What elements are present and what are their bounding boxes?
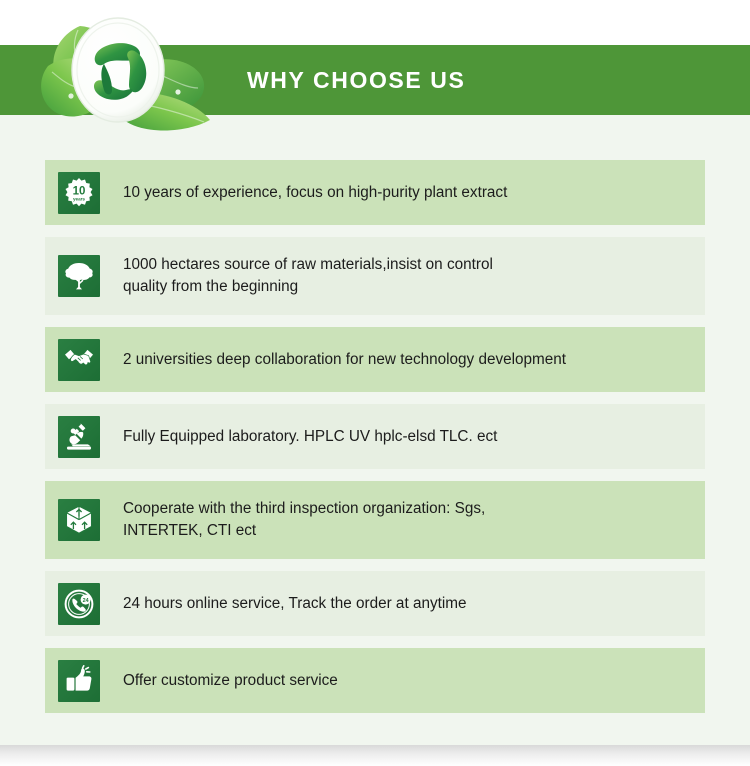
list-item-label: 10 years of experience, focus on high-pu… <box>123 182 705 204</box>
bottom-shadow <box>0 745 750 766</box>
tree-icon <box>58 255 100 297</box>
list-item[interactable]: Fully Equipped laboratory. HPLC UV hplc-… <box>45 404 705 469</box>
list-item-label: Cooperate with the third inspection orga… <box>123 498 705 542</box>
company-leaf-logo <box>18 8 233 138</box>
list-item-label: 1000 hectares source of raw materials,in… <box>123 254 705 298</box>
svg-text:24: 24 <box>83 598 89 604</box>
thumbs-up-icon <box>58 660 100 702</box>
list-item[interactable]: 24 24 hours online service, Track the or… <box>45 571 705 636</box>
twentyfour-hour-phone-icon: 24 <box>58 583 100 625</box>
list-item[interactable]: 10 years 10 years of experience, focus o… <box>45 160 705 225</box>
list-item-label: 24 hours online service, Track the order… <box>123 593 705 615</box>
list-item[interactable]: 1000 hectares source of raw materials,in… <box>45 237 705 315</box>
microscope-icon <box>58 416 100 458</box>
ten-years-badge-icon: 10 years <box>58 172 100 214</box>
svg-text:years: years <box>73 196 85 201</box>
cube-inspection-icon <box>58 499 100 541</box>
list-item-label: 2 universities deep collaboration for ne… <box>123 349 705 371</box>
why-choose-us-page: WHY CHOOSE US 10 years 10 years of exper… <box>0 0 750 766</box>
list-item[interactable]: Cooperate with the third inspection orga… <box>45 481 705 559</box>
list-item-label: Fully Equipped laboratory. HPLC UV hplc-… <box>123 426 705 448</box>
logo-disc <box>72 18 164 122</box>
list-item[interactable]: 2 universities deep collaboration for ne… <box>45 327 705 392</box>
page-title: WHY CHOOSE US <box>247 45 465 115</box>
feature-list: 10 years 10 years of experience, focus o… <box>45 160 705 725</box>
list-item-label: Offer customize product service <box>123 670 705 692</box>
svg-text:10: 10 <box>73 185 86 197</box>
handshake-icon <box>58 339 100 381</box>
list-item[interactable]: Offer customize product service <box>45 648 705 713</box>
